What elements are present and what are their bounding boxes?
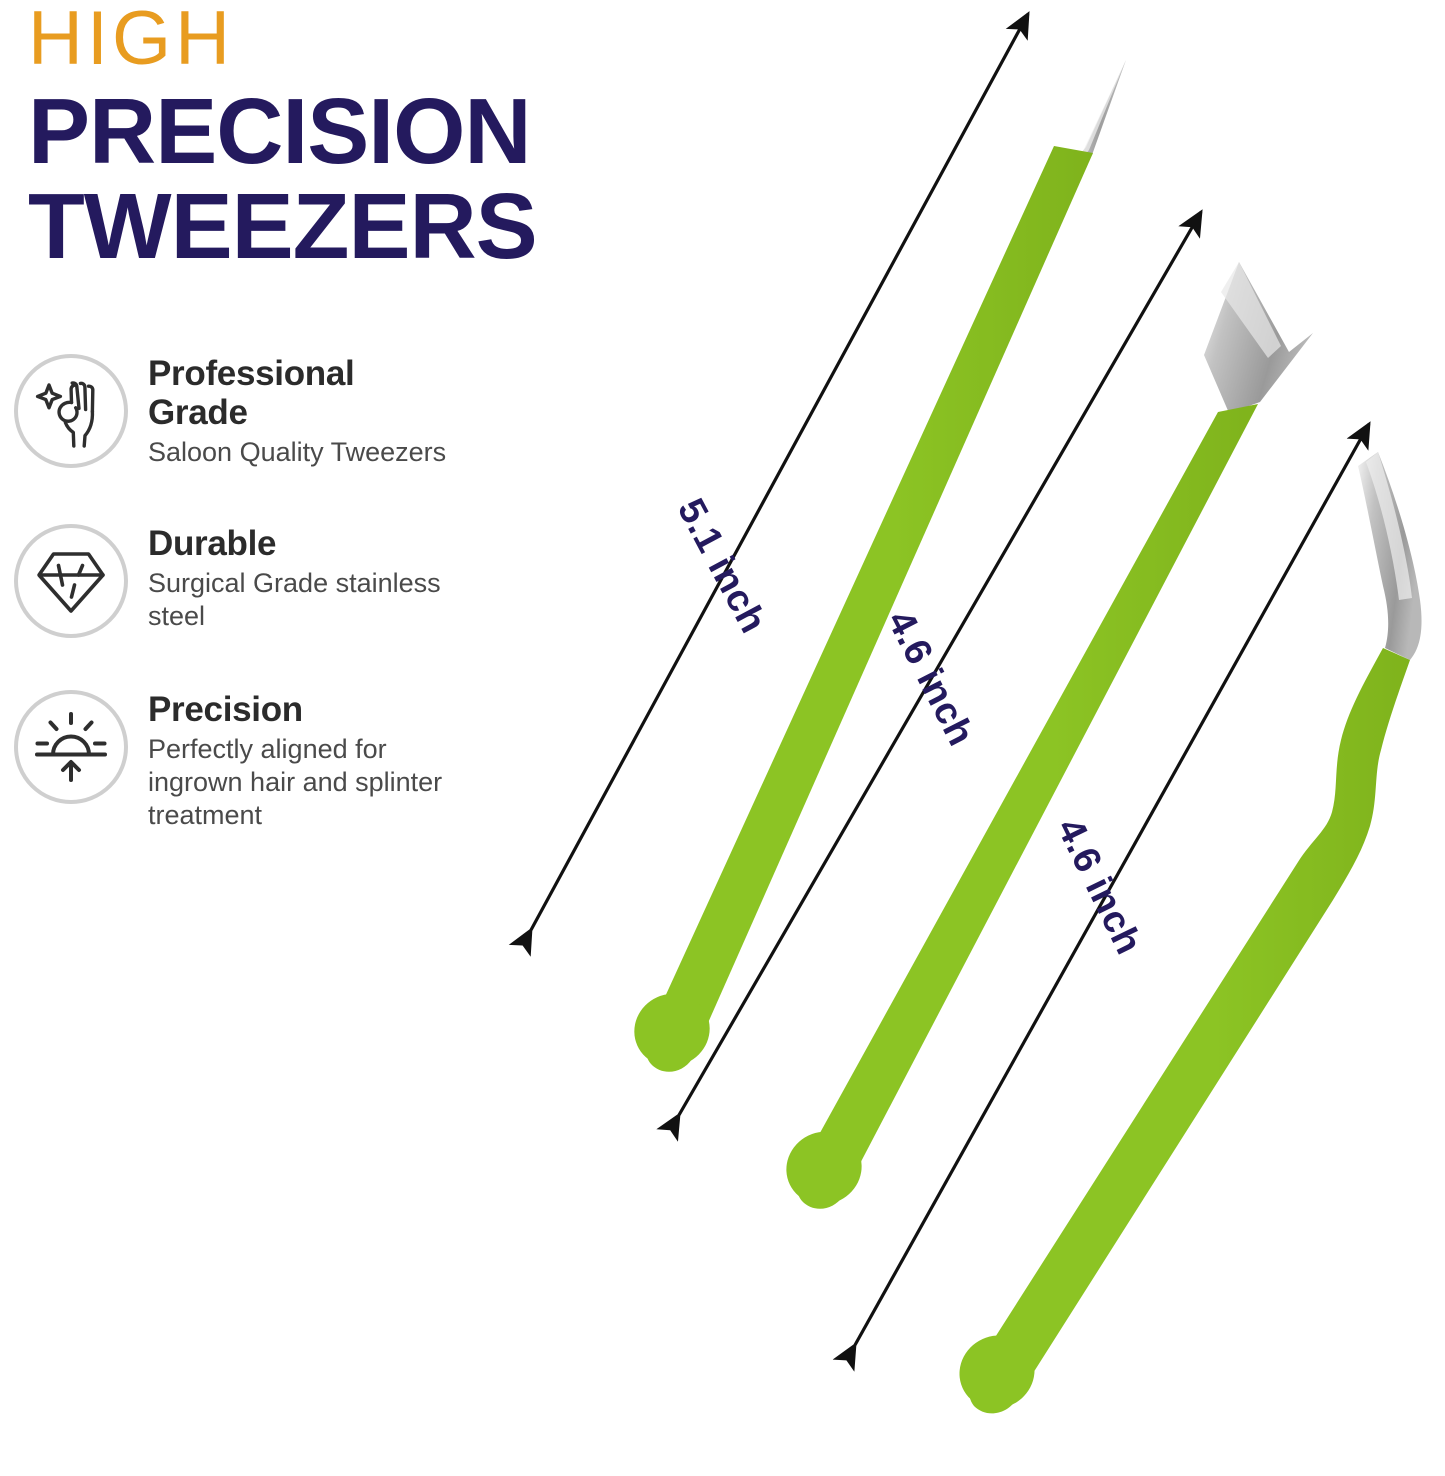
title-accent-line: HIGH <box>28 2 668 76</box>
feature-heading: Durable <box>148 524 448 563</box>
title-block: HIGH PRECISION TWEEZERS <box>28 2 668 274</box>
feature-heading: Precision <box>148 690 448 729</box>
feature-text: Precision Perfectly aligned for ingrown … <box>148 688 448 832</box>
feature-subtext: Saloon Quality Tweezers <box>148 436 448 469</box>
angled-bent-tweezer <box>774 262 1313 1217</box>
sunrise-arrow-icon <box>14 690 128 804</box>
feature-list: Professional Grade Saloon Quality Tweeze… <box>8 352 448 804</box>
feature-item-durable: Durable Surgical Grade stainless steel <box>8 522 448 640</box>
tweezer-tip-highlight-3 <box>1366 452 1412 600</box>
dimension-label-1: 5.1 inch <box>668 492 774 641</box>
tweezer-tip-highlight <box>1076 60 1126 166</box>
feature-subtext: Perfectly aligned for ingrown hair and s… <box>148 733 448 832</box>
tweezer-handle-2 <box>797 404 1258 1209</box>
handle-cap-3 <box>946 1322 1048 1422</box>
feature-text: Durable Surgical Grade stainless steel <box>148 522 448 633</box>
title-main: PRECISION TWEEZERS <box>28 84 668 274</box>
dimension-label-2: 4.6 inch <box>878 604 982 753</box>
feature-text: Professional Grade Saloon Quality Tweeze… <box>148 352 448 469</box>
tweezer-tip-highlight-2 <box>1221 262 1281 358</box>
feature-item-professional-grade: Professional Grade Saloon Quality Tweeze… <box>8 352 448 470</box>
ok-hand-sparkle-icon <box>14 354 128 468</box>
handle-cap-2 <box>774 1119 874 1217</box>
title-line-tweezers: TWEEZERS <box>28 179 668 274</box>
feature-heading: Professional Grade <box>148 354 448 432</box>
tweezer-tip-straight <box>1060 60 1126 180</box>
tweezer-handle-1 <box>646 146 1093 1072</box>
title-line-precision: PRECISION <box>28 84 668 179</box>
tweezer-tip-curved <box>1358 452 1422 660</box>
feature-item-precision: Precision Perfectly aligned for ingrown … <box>8 688 448 832</box>
dimension-label-3: 4.6 inch <box>1047 812 1149 962</box>
feature-subtext: Surgical Grade stainless steel <box>148 567 448 633</box>
curved-tip-tweezer <box>946 452 1421 1422</box>
infographic-canvas: HIGH PRECISION TWEEZERS <box>0 0 1445 1476</box>
handle-cap-1 <box>623 982 722 1079</box>
diamond-gem-icon <box>14 524 128 638</box>
tweezer-handle-3 <box>969 648 1410 1413</box>
tweezer-tip-angled <box>1204 262 1313 413</box>
